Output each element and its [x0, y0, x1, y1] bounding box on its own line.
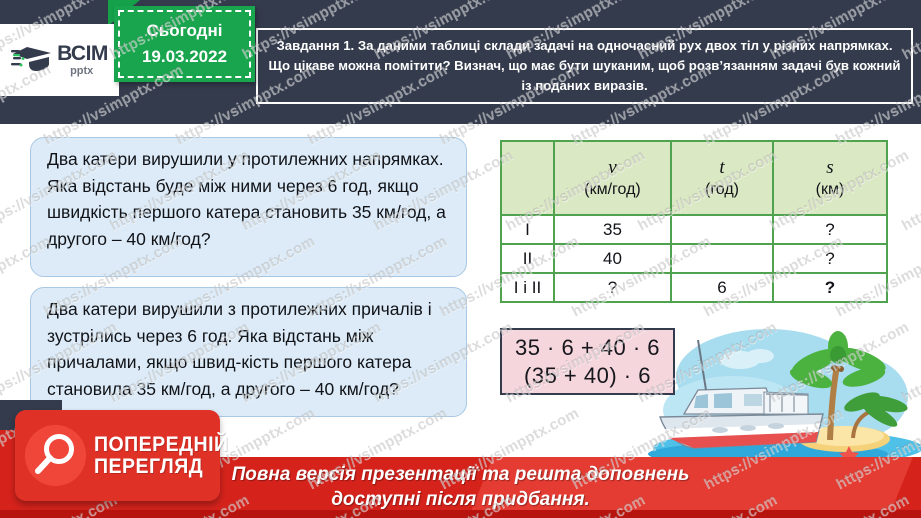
row-1-distance: ? — [773, 215, 887, 244]
row-2-speed: 40 — [554, 244, 671, 273]
table-header-row: v (км/год) t (год) s (км) — [501, 141, 887, 215]
speed-symbol: v — [555, 156, 670, 180]
table-header-cell-speed: v (км/год) — [554, 141, 671, 215]
table-row: I 35 ? — [501, 215, 887, 244]
row-3-time: 6 — [671, 273, 773, 302]
preview-badge-line-2: ПЕРЕГЛЯД — [94, 456, 228, 477]
motion-data-table: v (км/год) t (год) s (км) I 35 ? II — [500, 140, 888, 303]
row-1-speed: 35 — [554, 215, 671, 244]
footer-bottom-strip — [0, 510, 921, 518]
distance-symbol: s — [774, 156, 886, 180]
graduation-cap-icon — [11, 43, 53, 77]
slide-canvas: ВСІМ pptx Сьогодні 19.03.2022 Завдання 1… — [0, 0, 921, 518]
boat-palm-island-illustration — [648, 322, 921, 457]
problem-2-text: Два катери вирушили з протилежних причал… — [47, 296, 452, 402]
table-row: II 40 ? — [501, 244, 887, 273]
date-badge-label: Сьогодні — [147, 18, 223, 44]
table-row: I і II ? 6 ? — [501, 273, 887, 302]
logo-title: ВСІМ — [57, 43, 108, 64]
expression-line-2: (35 + 40) · 6 — [524, 362, 651, 390]
magnifier-icon — [25, 425, 86, 486]
speed-unit: (км/год) — [555, 180, 670, 200]
table-header-cell-distance: s (км) — [773, 141, 887, 215]
preview-badge-line-1: ПОПЕРЕДНІЙ — [94, 434, 228, 455]
row-2-time — [671, 244, 773, 273]
task-instruction-text: Завдання 1. За даними таблиці склади зад… — [258, 36, 911, 96]
footer-line-2: доступні після придбання. — [331, 488, 590, 512]
distance-unit: (км) — [774, 180, 886, 200]
date-badge-value: 19.03.2022 — [142, 44, 227, 70]
expression-box: 35 · 6 + 40 · 6 (35 + 40) · 6 — [500, 328, 675, 395]
problem-card-2: Два катери вирушили з протилежних причал… — [30, 287, 467, 417]
row-3-distance: ? — [773, 273, 887, 302]
expression-line-1: 35 · 6 + 40 · 6 — [515, 334, 660, 362]
time-symbol: t — [672, 156, 772, 180]
preview-badge: ПОПЕРЕДНІЙ ПЕРЕГЛЯД — [15, 410, 220, 501]
date-badge: Сьогодні 19.03.2022 — [114, 6, 255, 82]
row-1-time — [671, 215, 773, 244]
table-header-cell-blank — [501, 141, 554, 215]
problem-1-text: Два катери вирушили у протилежних напрям… — [47, 146, 452, 252]
time-unit: (год) — [672, 180, 772, 200]
task-instruction-box: Завдання 1. За даними таблиці склади зад… — [256, 28, 913, 104]
problem-card-1: Два катери вирушили у протилежних напрям… — [30, 137, 467, 277]
row-2-distance: ? — [773, 244, 887, 273]
footer-line-1: Повна версія презентації та решта доповн… — [232, 463, 690, 487]
row-3-label: I і II — [501, 273, 554, 302]
row-3-speed: ? — [554, 273, 671, 302]
row-1-label: I — [501, 215, 554, 244]
table-header-cell-time: t (год) — [671, 141, 773, 215]
logo-subtitle: pptx — [70, 66, 93, 77]
brand-logo: ВСІМ pptx — [0, 24, 119, 96]
row-2-label: II — [501, 244, 554, 273]
